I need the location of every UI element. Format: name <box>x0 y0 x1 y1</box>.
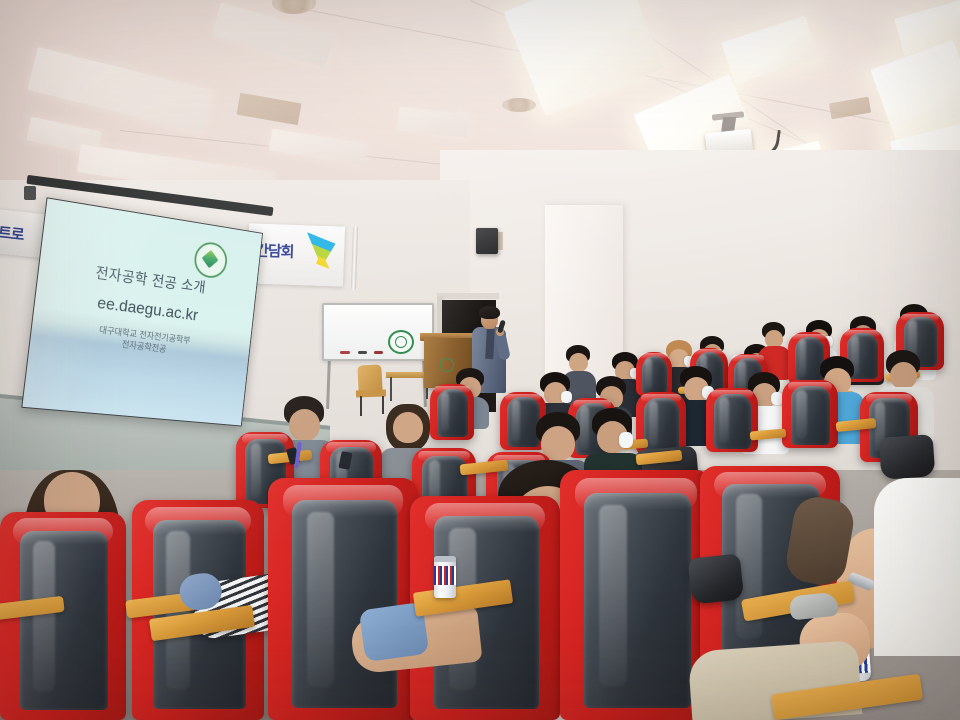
auditorium-seat[interactable] <box>636 352 672 396</box>
whiteboard-marker <box>358 351 367 354</box>
head <box>890 362 917 389</box>
banner-left-text: 트로 <box>0 221 25 245</box>
backpack[interactable] <box>688 553 745 604</box>
air-diffuser <box>272 0 316 14</box>
seat-highlight <box>418 451 469 462</box>
recessed-panel-light <box>397 106 469 137</box>
seat-highlight <box>505 394 542 402</box>
seat-highlight <box>714 472 826 498</box>
podium-emblem-icon <box>440 358 454 372</box>
seat-highlight <box>788 382 833 391</box>
seat-highlight <box>901 314 939 322</box>
seat-shell <box>292 500 397 708</box>
seat-shell <box>584 493 690 708</box>
seat-shell <box>507 397 539 447</box>
recessed-panel-light <box>27 47 212 133</box>
seat-highlight <box>575 478 697 511</box>
table-leg <box>390 377 392 401</box>
auditorium-seat[interactable] <box>782 380 838 448</box>
seat-shell <box>20 531 108 710</box>
seat-shell <box>714 394 750 449</box>
seat-shell <box>437 389 468 437</box>
projection-screen: 전자공학 전공 소개 ee.daegu.ac.kr 대구대학교 전자전기공학부 … <box>21 197 263 426</box>
ceiling-vent <box>829 97 871 120</box>
seat-highlight <box>732 355 764 361</box>
whiteboard-marker <box>340 351 350 354</box>
recessed-panel-light <box>721 15 818 84</box>
head <box>393 412 423 443</box>
seat-highlight <box>326 442 376 452</box>
seat-highlight <box>573 400 611 408</box>
seat-highlight <box>434 386 469 393</box>
beverage-can[interactable] <box>434 556 456 598</box>
head <box>569 353 588 372</box>
seat-highlight <box>711 390 753 398</box>
seat-shell <box>644 398 679 451</box>
presenter-lapel <box>485 329 495 359</box>
seat-shell <box>791 386 830 444</box>
presenter-hair <box>479 306 500 319</box>
sneaker <box>789 592 839 621</box>
seat-highlight <box>242 434 288 444</box>
seat-highlight <box>425 503 545 532</box>
can-top <box>434 556 456 562</box>
seat-highlight <box>641 394 681 402</box>
air-diffuser <box>502 98 536 112</box>
auditorium-seat[interactable] <box>706 388 758 452</box>
seat-shell <box>642 356 667 394</box>
swoosh-logo-icon <box>303 227 339 284</box>
screen-roller <box>24 186 36 200</box>
seat-highlight <box>844 330 879 337</box>
ceiling-vent <box>237 93 302 125</box>
screen-glare <box>22 198 262 425</box>
chair-leg <box>360 396 362 416</box>
backpack[interactable] <box>879 434 936 480</box>
seat-highlight <box>694 349 724 355</box>
audience-member-torso <box>874 478 960 656</box>
seat-highlight <box>145 507 251 536</box>
wall-speaker <box>476 228 498 254</box>
recessed-panel-light <box>269 129 367 166</box>
seat-highlight <box>640 353 669 359</box>
lecture-hall-photo: 트로 간담회 전자공학 전공 소개 ee.daegu.ac. <box>0 0 960 720</box>
whiteboard-marker <box>374 351 383 354</box>
auditorium-seat[interactable] <box>430 384 474 440</box>
can-label <box>434 566 456 584</box>
seat-highlight <box>283 485 403 516</box>
seat-highlight <box>792 334 826 341</box>
seat-highlight <box>13 518 114 545</box>
face-mask <box>619 432 633 448</box>
chair-leg <box>382 396 384 414</box>
university-seal <box>388 330 414 354</box>
door-header <box>437 293 499 299</box>
seat-shell <box>795 337 824 382</box>
auditorium-seat[interactable] <box>268 478 418 720</box>
seat-highlight <box>866 394 912 403</box>
